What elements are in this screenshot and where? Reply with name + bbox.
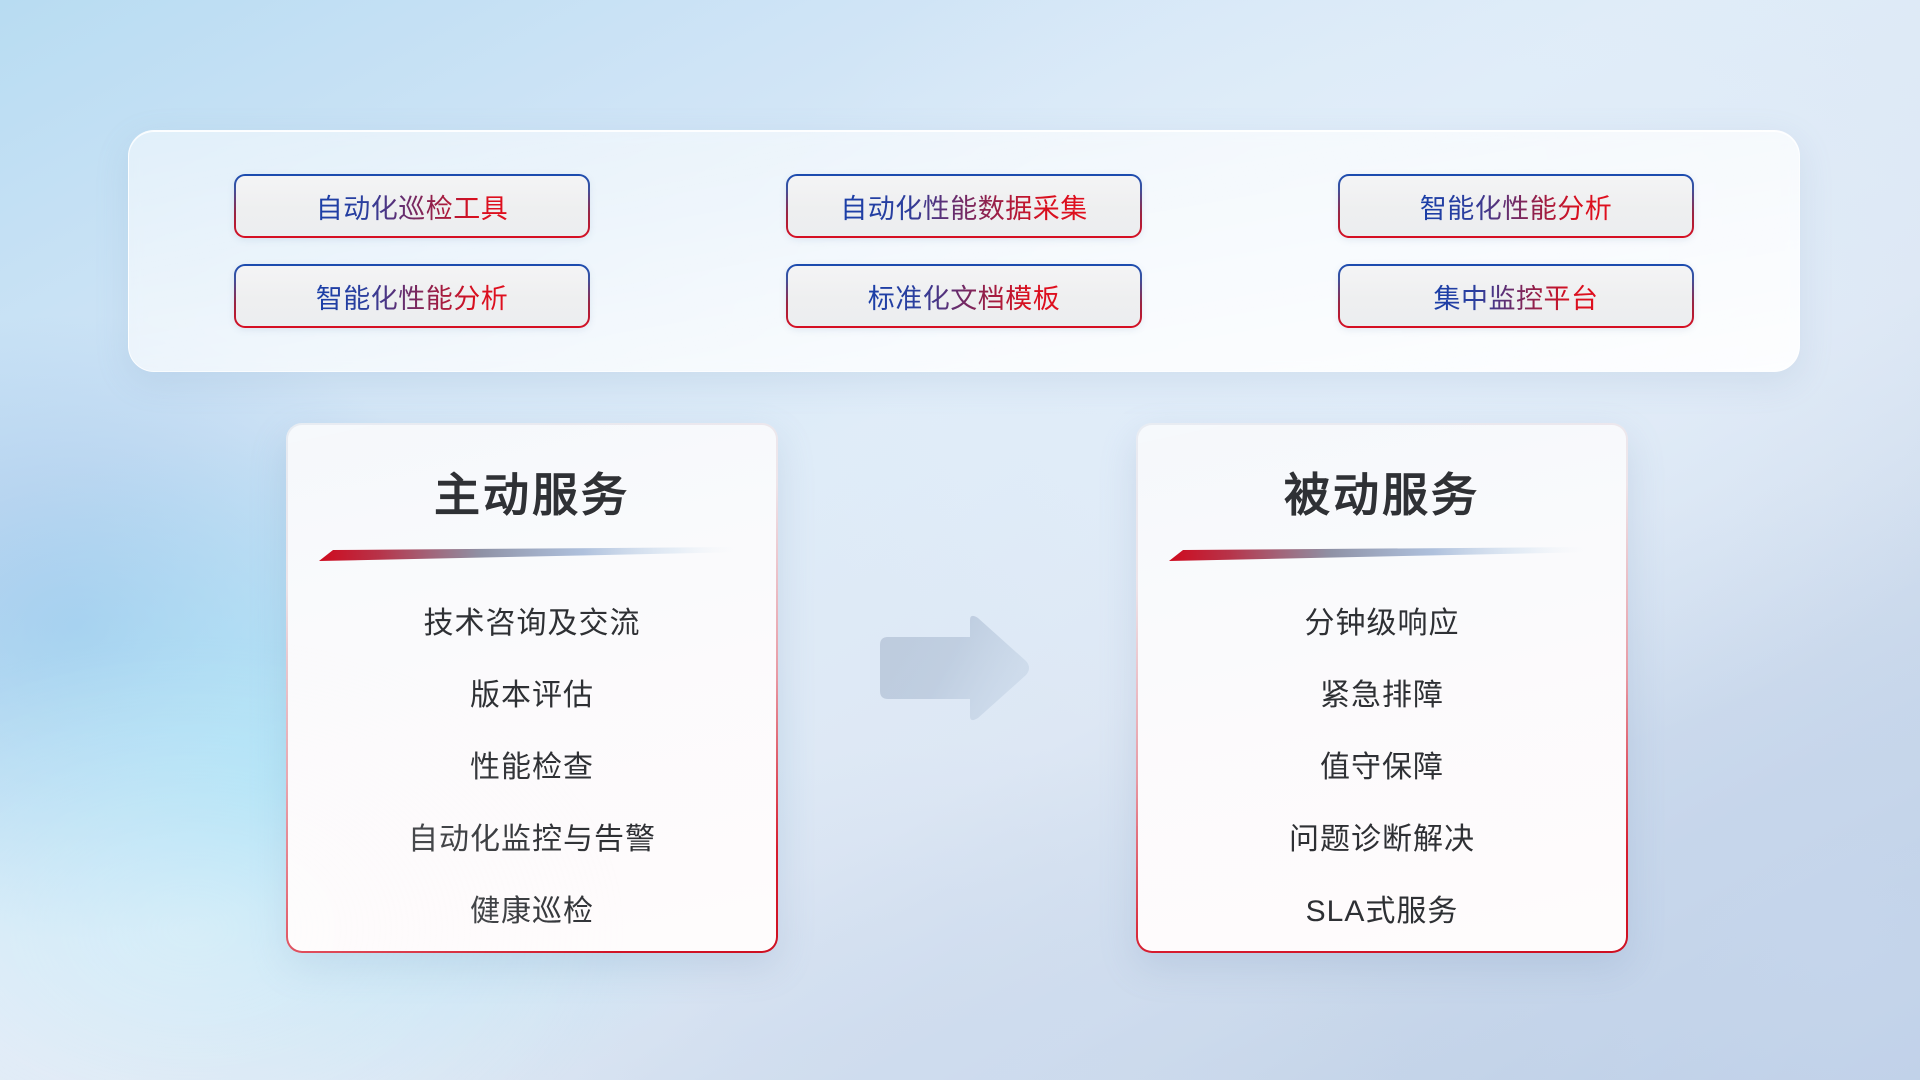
capability-chip-standard-doc-template[interactable]: 标准化文档模板 — [786, 264, 1142, 328]
arrow-right-icon — [872, 613, 1032, 723]
card-item-list: 分钟级响应 紧急排障 值守保障 问题诊断解决 SLA式服务 — [1138, 588, 1626, 948]
chip-surface: 标准化文档模板 — [788, 266, 1140, 326]
list-item: 技术咨询及交流 — [424, 588, 641, 660]
service-card-active[interactable]: 主动服务 — [286, 423, 778, 953]
chip-label: 智能化性能分析 — [1420, 187, 1613, 226]
list-item: 问题诊断解决 — [1289, 804, 1475, 876]
card-title: 被动服务 — [1284, 459, 1480, 525]
chip-label: 自动化性能数据采集 — [840, 187, 1088, 226]
chip-surface: 智能化性能分析 — [1340, 176, 1692, 236]
card-title: 主动服务 — [434, 459, 630, 525]
chip-surface: 自动化巡检工具 — [236, 176, 588, 236]
chip-surface: 自动化性能数据采集 — [788, 176, 1140, 236]
capability-chip-automated-perf-collection[interactable]: 自动化性能数据采集 — [786, 174, 1142, 238]
chip-surface: 集中监控平台 — [1340, 266, 1692, 326]
capability-chip-central-monitoring-platform[interactable]: 集中监控平台 — [1338, 264, 1694, 328]
list-item: 分钟级响应 — [1305, 588, 1460, 660]
service-card-passive[interactable]: 被动服务 — [1136, 423, 1628, 953]
list-item: 紧急排障 — [1320, 660, 1444, 732]
list-item: 自动化监控与告警 — [408, 804, 656, 876]
capability-row-1: 自动化巡检工具 自动化性能数据采集 智能化性能分析 — [129, 174, 1799, 238]
card-item-list: 技术咨询及交流 版本评估 性能检查 自动化监控与告警 健康巡检 — [288, 588, 776, 948]
list-item: 性能检查 — [470, 732, 594, 804]
title-divider — [319, 547, 745, 562]
list-item: 版本评估 — [470, 660, 594, 732]
chip-label: 集中监控平台 — [1434, 277, 1599, 316]
title-divider — [1169, 547, 1595, 562]
capability-chip-automated-inspection-tool[interactable]: 自动化巡检工具 — [234, 174, 590, 238]
chip-label: 智能化性能分析 — [316, 277, 509, 316]
capability-chip-intelligent-perf-analysis[interactable]: 智能化性能分析 — [1338, 174, 1694, 238]
chip-surface: 智能化性能分析 — [236, 266, 588, 326]
chip-label: 自动化巡检工具 — [316, 187, 509, 226]
slide-canvas: 自动化巡检工具 自动化性能数据采集 智能化性能分析 智能化性能分析 — [0, 0, 1920, 1080]
list-item: 健康巡检 — [470, 876, 594, 948]
list-item: 值守保障 — [1320, 732, 1444, 804]
capability-row-2: 智能化性能分析 标准化文档模板 集中监控平台 — [129, 264, 1799, 328]
capability-panel: 自动化巡检工具 自动化性能数据采集 智能化性能分析 智能化性能分析 — [128, 130, 1800, 372]
capability-chip-intelligent-perf-analysis-2[interactable]: 智能化性能分析 — [234, 264, 590, 328]
chip-label: 标准化文档模板 — [868, 277, 1061, 316]
card-surface: 被动服务 — [1138, 425, 1626, 951]
card-surface: 主动服务 — [288, 425, 776, 951]
list-item: SLA式服务 — [1306, 876, 1459, 948]
